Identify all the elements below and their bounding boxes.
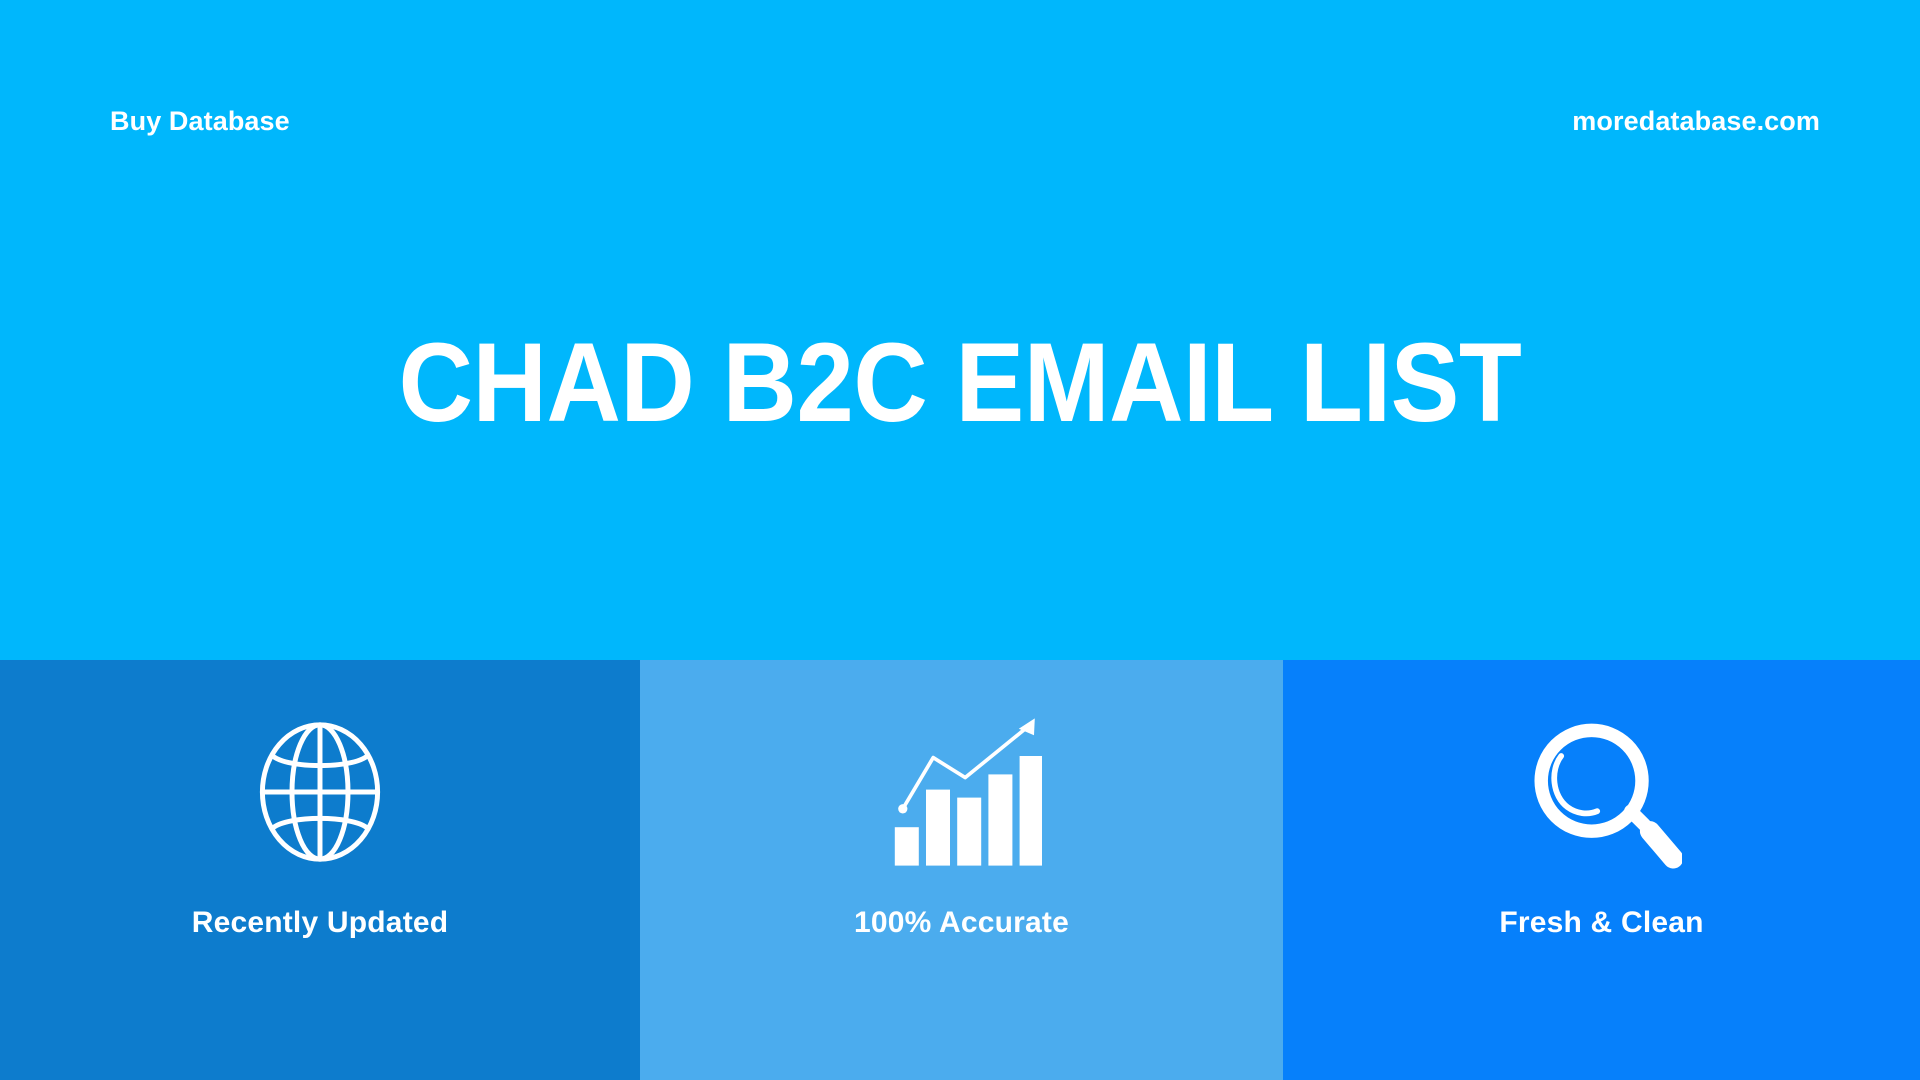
bar-chart-growth-icon [882, 712, 1042, 872]
globe-icon [240, 712, 400, 872]
promo-banner: Buy Database moredatabase.com CHAD B2C E… [0, 0, 1920, 1080]
feature-panel-accurate: 100% Accurate [640, 660, 1283, 1080]
feature-label-accurate: 100% Accurate [854, 908, 1069, 938]
feature-strip: Recently Updated 100% Accurate [0, 660, 1920, 1080]
feature-label-recently-updated: Recently Updated [192, 908, 449, 938]
banner-header: Buy Database moredatabase.com CHAD B2C E… [0, 0, 1920, 660]
feature-panel-fresh-clean: Fresh & Clean [1283, 660, 1920, 1080]
magnifier-icon [1522, 712, 1682, 872]
page-title: CHAD B2C EMAIL LIST [77, 327, 1843, 439]
brand-label: Buy Database [110, 108, 290, 135]
feature-label-fresh-clean: Fresh & Clean [1499, 908, 1703, 938]
feature-panel-recently-updated: Recently Updated [0, 660, 640, 1080]
site-url-label: moredatabase.com [1572, 108, 1820, 135]
